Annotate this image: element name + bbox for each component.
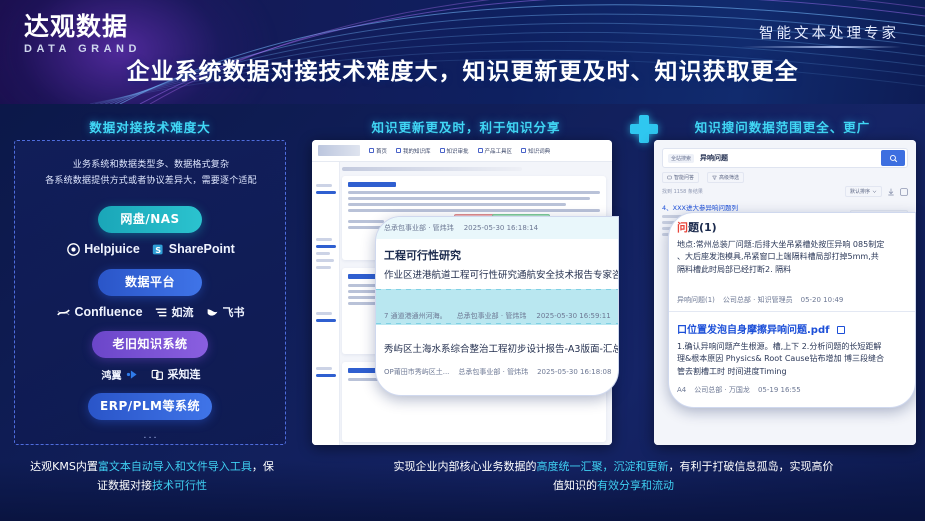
feishu-icon — [206, 306, 219, 319]
callout-meta-2: A4 公司总部 · 万国龙 05-19 16:55 — [677, 385, 801, 395]
nav-item-tools[interactable]: 产品工具区 — [478, 147, 513, 155]
footer-left-h1: 富文本自动导入和文件导入工具 — [98, 460, 252, 473]
callout-result-title-1: 问题(1) — [677, 219, 717, 235]
sidebar-tree[interactable] — [312, 162, 340, 445]
brand-helpjuice: Helpjuice — [67, 242, 140, 256]
callout-doc-2: OP莆田市秀屿区土... — [384, 367, 449, 377]
nav-item-my-kb[interactable]: 我的知识库 — [396, 147, 431, 155]
callout-result-body-2: 1.确认异响问题产生根源。槽,上下 2.分析问题的长短距解 理&根本原因 Phy… — [677, 341, 907, 378]
callout-body2-line-1: 1.确认异响问题产生根源。槽,上下 2.分析问题的长短距解 — [677, 341, 907, 353]
more-sources-ellipsis: ... — [15, 429, 287, 441]
panel-subtitle-1: 业务系统和数据类型多、数据格式复杂 — [15, 157, 287, 170]
caizhilian-icon — [151, 368, 164, 381]
callout-dept-1: 公司总部 · 知识管理员 — [723, 295, 793, 305]
brand-feishu-label: 飞书 — [223, 304, 245, 320]
panel-subtitle-2: 各系统数据提供方式或者协议差异大，需要逐个适配 — [15, 173, 287, 186]
callout-band-dept: 总承包事业部 · 管炜玮 — [457, 311, 527, 321]
chevron-down-icon — [872, 189, 877, 194]
callout-time-2: 2025-05-30 16:18:08 — [537, 368, 611, 376]
external-link-icon[interactable] — [837, 326, 845, 334]
logo: 达观数据 DATA GRAND — [24, 14, 141, 55]
callout-divider — [669, 311, 915, 312]
layout-toggle-icon[interactable] — [900, 188, 908, 196]
footer-left-p1: 达观KMS内置 — [30, 460, 98, 473]
nav-item-home[interactable]: 首页 — [369, 147, 387, 155]
brand-row-3: 鸿翼 采知连 — [15, 366, 287, 382]
brand-caizhilian: 采知连 — [151, 366, 201, 382]
footer-right-p2: ，有利于打破信息孤岛，实现高价 — [669, 460, 834, 473]
brand-ruliu: 如流 — [155, 304, 194, 320]
callout-highlight-band: 7 通道港通州河海。 总承包事业部 · 管炜玮 2025-05-30 16:59… — [376, 289, 618, 325]
search-scope-select[interactable]: 全站搜索 — [668, 154, 694, 163]
confluence-icon — [57, 306, 70, 319]
search-bar[interactable]: 全站搜索 异响问题 — [662, 148, 908, 168]
download-icon[interactable] — [887, 188, 895, 196]
pill-data-platform[interactable]: 数据平台 — [98, 269, 202, 296]
search-button[interactable] — [881, 150, 905, 166]
hongyi-arrow-icon — [126, 368, 139, 381]
ruliu-icon — [155, 306, 168, 319]
callout-doc-file-2: 秀屿区土海水系综合整治工程初步设计报告-A3版面-汇总稿0810.pdf — [384, 341, 619, 355]
brand-feishu: 飞书 — [206, 304, 245, 320]
section-header-mid: 知识更新更及时，利于知识分享 — [306, 117, 626, 136]
brand-sharepoint: S SharePoint — [152, 242, 235, 256]
footer-text-left: 达观KMS内置富文本自动导入和文件导入工具，保 证数据对接技术可行性 — [4, 458, 300, 495]
callout-body2-line-3: 管去割槽工时 时间进度Timing — [677, 366, 907, 378]
nav-item-approval[interactable]: 知识审批 — [440, 147, 469, 155]
brand-hongyi: 鸿翼 — [102, 367, 139, 382]
breadcrumb — [342, 167, 522, 171]
callout-time-2b: 05-19 16:55 — [758, 386, 801, 394]
callout-meta-1: 异响问题(1) 公司总部 · 知识管理员 05-20 10:49 — [677, 295, 843, 305]
callout-tag-2: A4 — [677, 386, 686, 394]
logo-cn: 达观数据 — [24, 14, 141, 40]
brand-row-2: Confluence 如流 飞书 — [15, 304, 287, 320]
slide-root: 达观数据 DATA GRAND 智能文本处理专家 企业系统数据对接技术难度大，知… — [0, 0, 925, 521]
footer-left-h2: 技术可行性 — [152, 479, 207, 492]
callout-dept-2b: 公司总部 · 万国龙 — [694, 385, 750, 395]
callout-result-body-1: 地点:常州总装厂问题:后排大坐吊紧槽处按压异响 085制定 、大后座发泡模具,吊… — [677, 239, 907, 276]
nav-item-dictionary[interactable]: 知识词典 — [521, 147, 550, 155]
search-filter-chips[interactable]: 智能问答 高级筛选 — [662, 172, 744, 183]
brand-confluence-label: Confluence — [74, 305, 142, 319]
zoom-callout-right: 问题(1) 地点:常州总装厂问题:后排大坐吊紧槽处按压异响 085制定 、大后座… — [668, 212, 916, 408]
callout-band-time: 2025-05-30 16:59:11 — [536, 312, 610, 320]
callout-doc-file: 作业区进港航道工程可行性研究通航安全技术报告专家咨询意见.pdf 南通港通州 — [384, 267, 619, 281]
brand-sharepoint-label: SharePoint — [169, 242, 235, 256]
search-input[interactable]: 异响问题 — [700, 153, 728, 163]
brand-helpjuice-label: Helpjuice — [84, 242, 140, 256]
callout-time-1: 05-20 10:49 — [801, 296, 844, 304]
footer-right-p1: 实现企业内部核心业务数据的 — [394, 460, 537, 473]
callout-meta-row-top: 总承包事业部 · 管炜玮 2025-05-30 16:18:14 — [376, 217, 618, 239]
pill-erp-plm-systems[interactable]: ERP/PLM等系统 — [88, 393, 212, 420]
section-header-right: 知识搜问数据范围更全、更广 — [640, 117, 925, 136]
chip-advanced-filter[interactable]: 高级筛选 — [707, 172, 744, 183]
footer-right-p3: 值知识的 — [553, 479, 597, 492]
callout-tag-1: 异响问题(1) — [677, 295, 715, 305]
chip-smart-qa[interactable]: 智能问答 — [662, 172, 699, 183]
callout-meta-row-2: OP莆田市秀屿区土... 总承包事业部 · 管炜玮 2025-05-30 16:… — [384, 367, 611, 377]
brand-caizhilian-label: 采知连 — [168, 366, 201, 382]
app-navbar: 首页 我的知识库 知识审批 产品工具区 知识词典 — [312, 140, 612, 162]
helpjuice-icon — [67, 243, 80, 256]
page-title: 企业系统数据对接技术难度大，知识更新更及时、知识获取更全 — [0, 52, 925, 86]
brand-row-1: Helpjuice S SharePoint — [15, 242, 287, 256]
pill-netdisk-nas[interactable]: 网盘/NAS — [98, 206, 202, 233]
sort-bar[interactable]: 默认排序 — [845, 186, 908, 197]
callout-dept-top: 总承包事业部 · 管炜玮 — [384, 223, 454, 233]
data-sources-panel: 业务系统和数据类型多、数据格式复杂 各系统数据提供方式或者协议差异大，需要逐个适… — [14, 140, 286, 445]
filter-icon — [712, 175, 717, 180]
svg-text:S: S — [155, 244, 161, 254]
footer-left-p3: 证数据对接 — [97, 479, 152, 492]
footer-left-p2: ，保 — [252, 460, 274, 473]
callout-result-title-2[interactable]: 口位置发泡自身摩擦异响问题.pdf — [677, 321, 845, 336]
robot-icon — [667, 175, 672, 180]
pill-legacy-knowledge-system[interactable]: 老旧知识系统 — [92, 331, 208, 358]
callout-body2-line-2: 理&根本原因 Physics& Root Cause钻布增加 博三段缝合 — [677, 353, 907, 365]
zoom-callout-mid: 总承包事业部 · 管炜玮 2025-05-30 16:18:14 工程可行性研究… — [375, 216, 619, 396]
callout-body-line-2: 、大后座发泡模具,吊紧窗口上端隔料槽局部打掉5mm,共 — [677, 251, 907, 263]
tagline-rule — [741, 46, 901, 48]
callout-body-line-1: 地点:常州总装厂问题:后排大坐吊紧槽处按压异响 085制定 — [677, 239, 907, 251]
callout-time-top: 2025-05-30 16:18:14 — [464, 224, 538, 232]
callout-band-text: 7 通道港通州河海。 — [384, 311, 447, 321]
section-header-left: 数据对接技术难度大 — [14, 117, 286, 136]
brand-ruliu-label: 如流 — [172, 304, 194, 320]
sharepoint-icon: S — [152, 243, 165, 256]
footer-text-right: 实现企业内部核心业务数据的高度统一汇聚，沉淀和更新，有利于打破信息孤岛，实现高价… — [306, 458, 921, 495]
callout-title-highlight: 问 — [677, 221, 688, 234]
search-icon — [889, 154, 898, 163]
footer-right-h2: 有效分享和流动 — [597, 479, 674, 492]
callout-dept-2: 总承包事业部 · 管炜玮 — [458, 367, 528, 377]
callout-body-line-3: 隔料槽此时局部已经打断2. 隔料 — [677, 264, 907, 276]
brand-confluence: Confluence — [57, 305, 142, 319]
footer-right-h1: 高度统一汇聚，沉淀和更新 — [537, 460, 669, 473]
result-count: 找到 1158 条结果 — [662, 188, 703, 195]
brand-hongyi-label: 鸿翼 — [102, 367, 122, 382]
tagline: 智能文本处理专家 — [759, 22, 899, 43]
app-logo — [318, 145, 360, 156]
callout-doc-title: 工程可行性研究 — [384, 247, 461, 263]
sort-select[interactable]: 默认排序 — [845, 186, 882, 197]
